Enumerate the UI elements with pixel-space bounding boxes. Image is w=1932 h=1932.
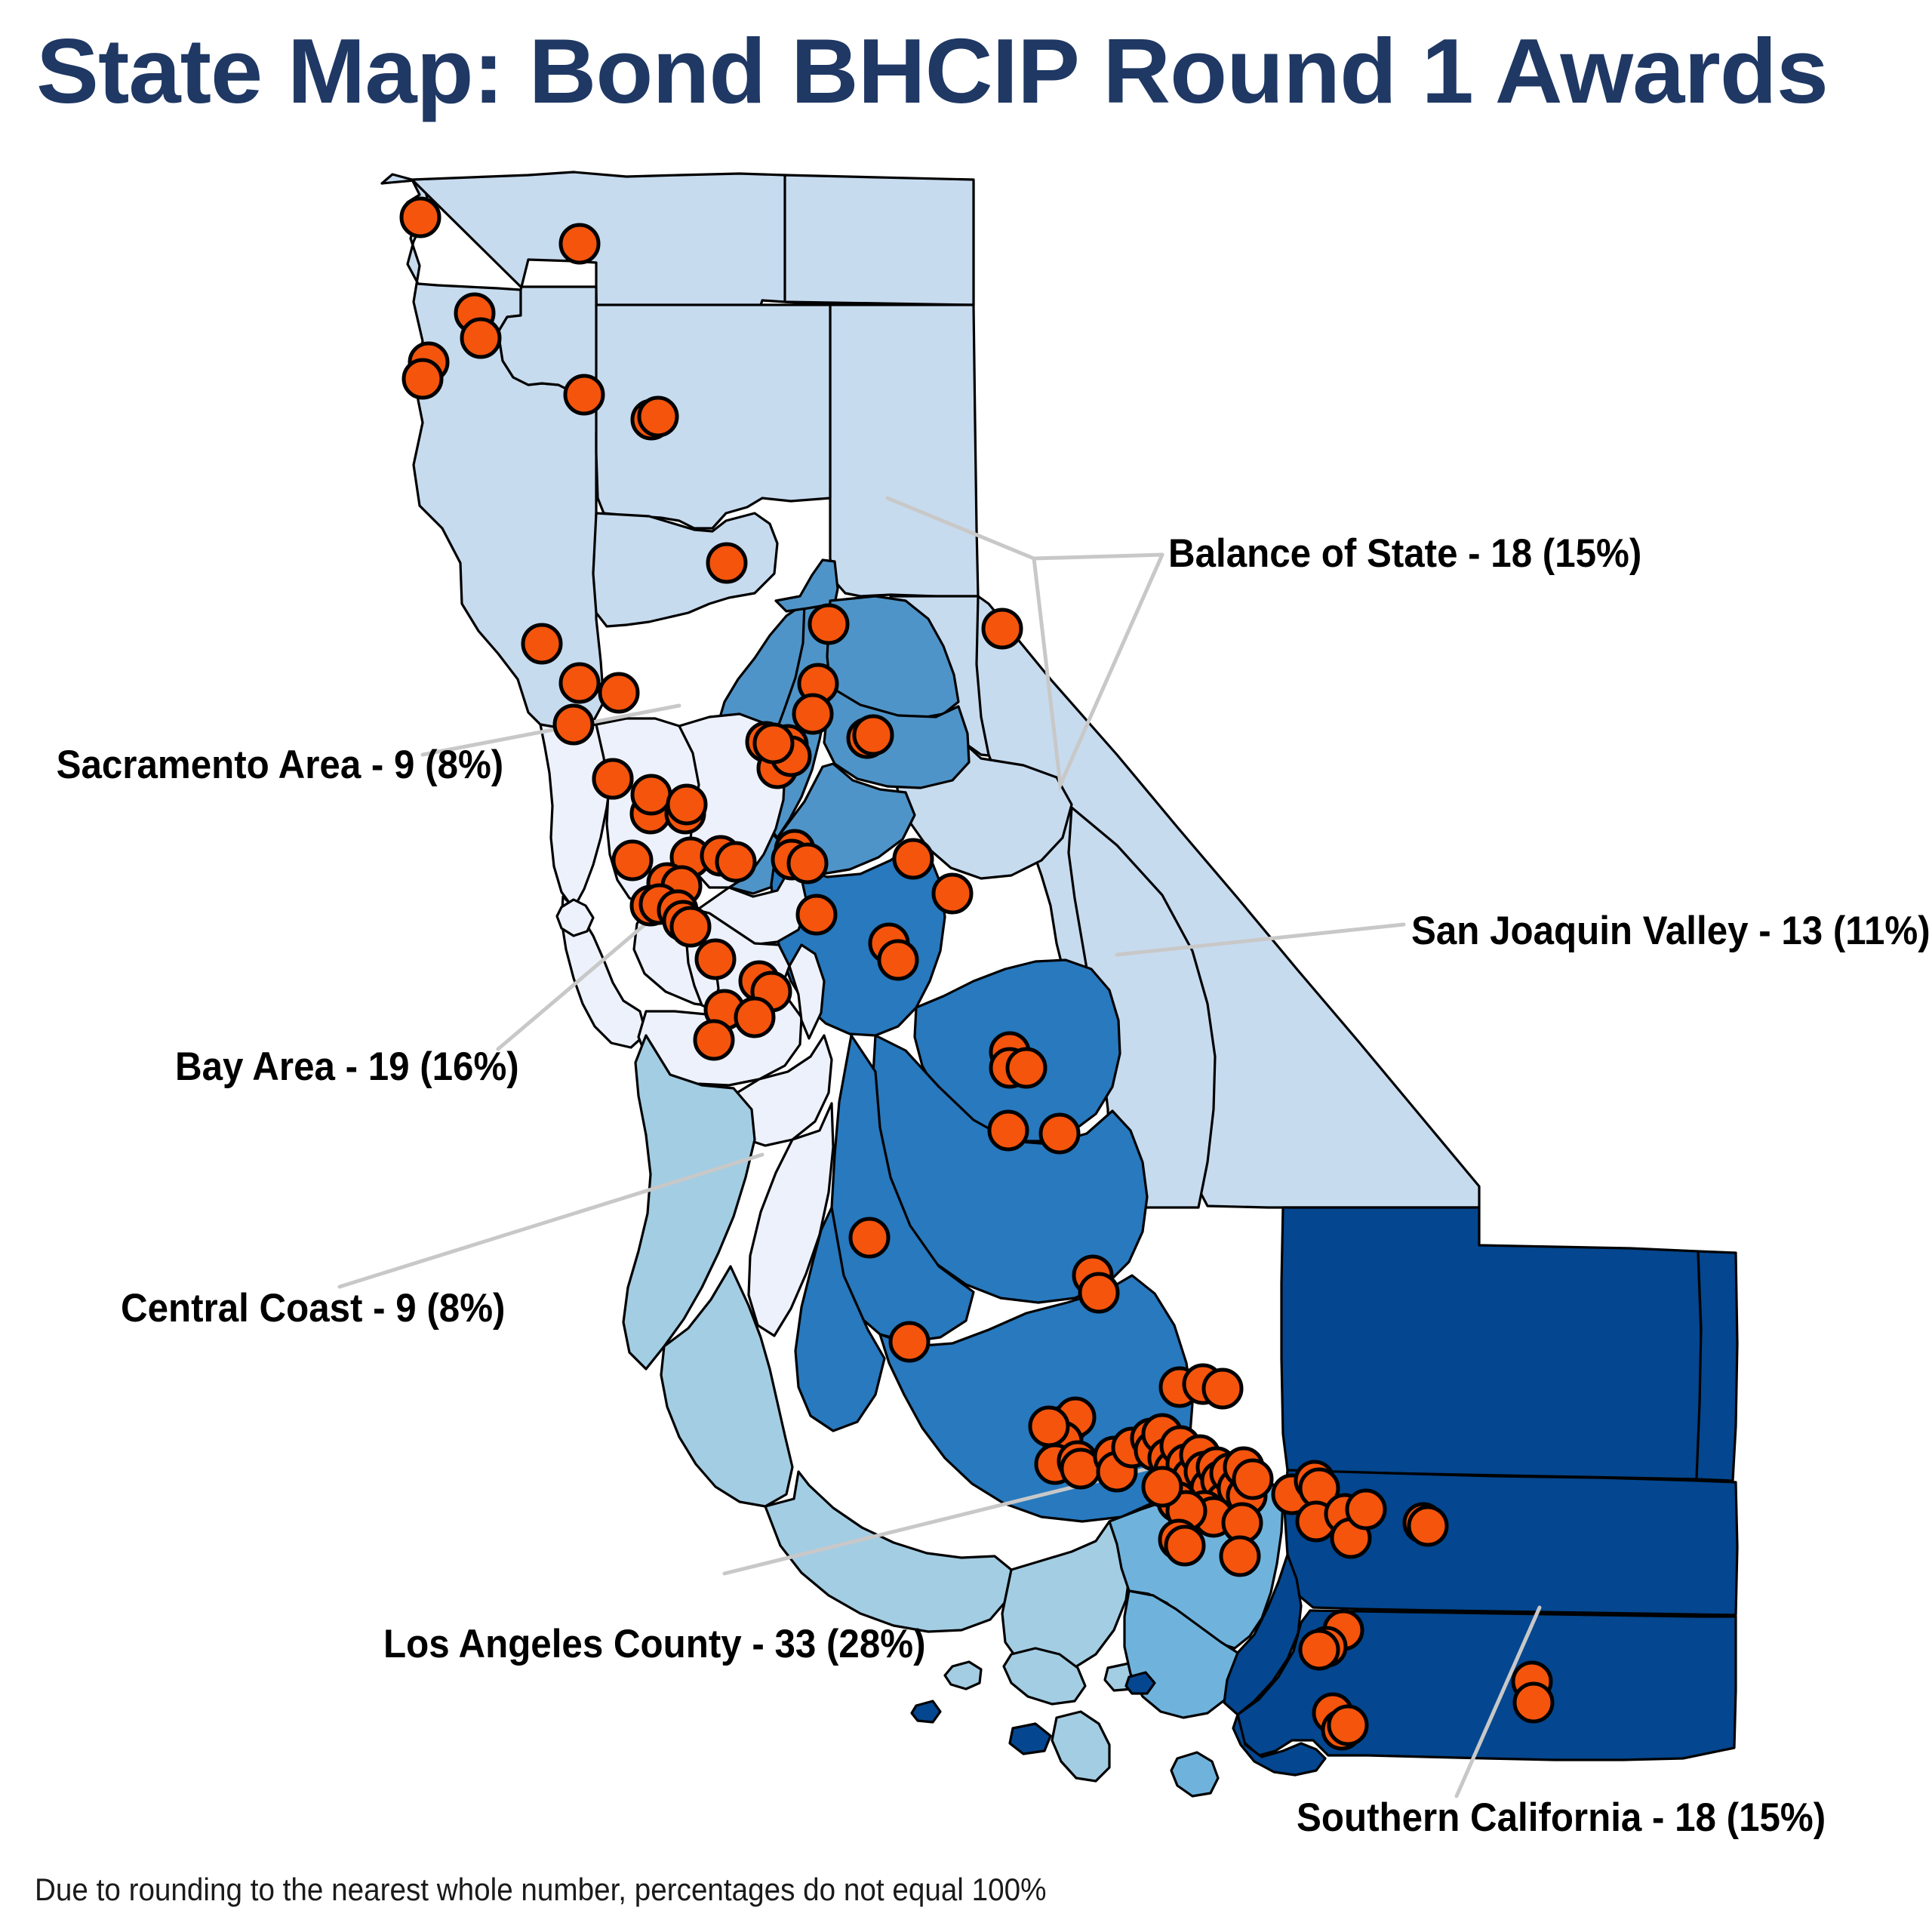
footnote-text: Due to rounding to the nearest whole num… bbox=[35, 1872, 1046, 1908]
award-dot bbox=[672, 908, 709, 946]
award-dot bbox=[789, 844, 826, 882]
award-dot bbox=[891, 1323, 928, 1361]
award-dot bbox=[798, 896, 835, 934]
award-dot bbox=[1030, 1407, 1068, 1445]
label-bay-area: Bay Area - 19 (16%) bbox=[175, 1045, 519, 1089]
award-dot bbox=[1166, 1527, 1204, 1564]
award-dot bbox=[794, 695, 832, 733]
award-dot bbox=[697, 940, 734, 978]
award-dot bbox=[879, 941, 917, 979]
award-dot bbox=[1409, 1507, 1447, 1545]
award-dot bbox=[561, 664, 598, 702]
award-dot bbox=[561, 225, 598, 263]
award-dot bbox=[668, 786, 706, 823]
award-dot bbox=[614, 841, 651, 879]
award-dot bbox=[851, 1219, 888, 1257]
label-san-joaquin-valley: San Joaquin Valley - 13 (11%) bbox=[1411, 909, 1930, 953]
award-dot bbox=[1300, 1631, 1338, 1669]
award-dot bbox=[462, 319, 500, 357]
award-dot bbox=[1143, 1468, 1181, 1506]
label-balance-of-state: Balance of State - 18 (15%) bbox=[1168, 532, 1641, 576]
label-southern-california: Southern California - 18 (15%) bbox=[1297, 1796, 1826, 1840]
award-dot bbox=[555, 706, 592, 743]
award-dot bbox=[854, 716, 892, 754]
award-dot bbox=[934, 875, 971, 912]
award-dot bbox=[600, 674, 638, 712]
award-dot bbox=[523, 625, 561, 663]
award-dot bbox=[983, 610, 1021, 648]
award-dot bbox=[404, 360, 441, 398]
award-dot bbox=[989, 1112, 1027, 1149]
map-regions bbox=[382, 172, 1737, 1796]
award-dot bbox=[695, 1021, 733, 1059]
award-dot bbox=[894, 840, 932, 878]
award-dot bbox=[717, 843, 755, 881]
award-dot bbox=[810, 605, 848, 643]
award-dot bbox=[1234, 1460, 1272, 1498]
award-dot bbox=[755, 724, 792, 762]
label-sacramento-area: Sacramento Area - 9 (8%) bbox=[57, 743, 504, 787]
award-dot bbox=[1204, 1370, 1241, 1407]
label-los-angeles-county: Los Angeles County - 33 (28%) bbox=[383, 1623, 925, 1666]
award-dot bbox=[565, 376, 603, 414]
award-dot bbox=[639, 398, 677, 435]
award-dot bbox=[1347, 1491, 1385, 1528]
award-dot bbox=[1329, 1706, 1367, 1744]
award-dot bbox=[401, 198, 439, 236]
label-central-coast: Central Coast - 9 (8%) bbox=[121, 1287, 505, 1331]
award-dot bbox=[1221, 1537, 1259, 1575]
california-choropleth-map bbox=[0, 0, 1932, 1932]
award-dot bbox=[1041, 1115, 1078, 1152]
award-dot bbox=[736, 998, 774, 1036]
award-dot bbox=[632, 776, 670, 814]
award-dot bbox=[708, 544, 746, 582]
award-dot bbox=[1008, 1049, 1045, 1087]
award-dot bbox=[1080, 1274, 1118, 1312]
award-dot bbox=[594, 760, 632, 798]
award-dot bbox=[1515, 1684, 1552, 1721]
